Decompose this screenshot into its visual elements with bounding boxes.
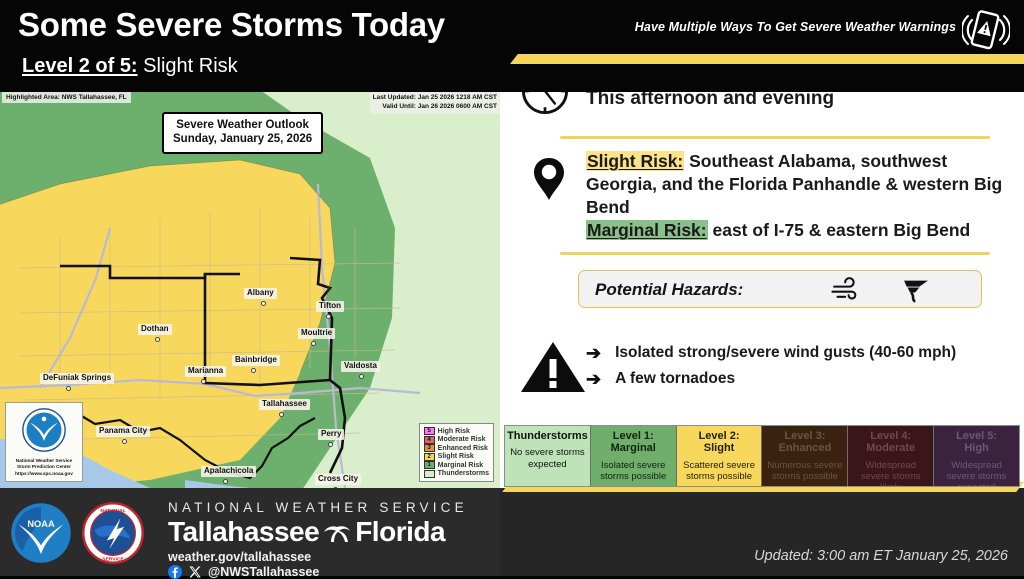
city-label: Dothan <box>138 324 172 335</box>
risk-scale-title: Level 3: Enhanced <box>779 430 832 455</box>
city-marker <box>279 412 284 417</box>
facebook-icon[interactable] <box>168 565 182 579</box>
state-name: Florida <box>355 516 445 548</box>
outlook-date: Sunday, January 25, 2026 <box>173 132 312 146</box>
legend-label: Moderate Risk <box>438 436 486 443</box>
header-bar: Some Severe Storms Today Level 2 of 5: S… <box>0 0 1024 92</box>
map-timestamp-block: Last Updated: Jan 25 2026 1218 AM CST Va… <box>370 92 500 114</box>
warning-triangle-icon <box>520 340 586 394</box>
page-title: Some Severe Storms Today <box>18 6 445 44</box>
legend-label: Thunderstorms <box>438 470 489 477</box>
hazards-label: Potential Hazards: <box>595 280 743 300</box>
legend-label: High Risk <box>438 428 470 435</box>
risk-scale-description: Widespread severe storms expected <box>936 460 1017 486</box>
map-pin-icon <box>532 156 566 202</box>
svg-text:NOAA: NOAA <box>27 519 55 529</box>
risk-scale-cell: Level 2: SlightScattered severe storms p… <box>677 426 763 486</box>
noaa-logo: NOAA <box>10 502 72 564</box>
risk-scale-cell: Level 1: MarginalIsolated severe storms … <box>591 426 677 486</box>
slight-risk-label: Slight Risk: <box>586 151 684 171</box>
legend-item: Thunderstorms <box>424 470 489 478</box>
spc-line-1: National Weather Service <box>8 458 80 465</box>
city-label: Valdosta <box>341 361 380 372</box>
details-panel: When: This afternoon and evening Slight … <box>500 52 1024 488</box>
marginal-risk-label: Marginal Risk: <box>586 220 708 240</box>
hazard-bullet-text: Isolated strong/severe wind gusts (40-60… <box>615 344 956 362</box>
noaa-logo-small <box>21 407 67 453</box>
map-last-updated: Last Updated: Jan 25 2026 1218 AM CST <box>373 94 497 103</box>
updated-timestamp: Updated: 3:00 am ET January 25, 2026 <box>754 548 1008 564</box>
marginal-risk-text: east of I-75 & eastern Big Bend <box>708 220 971 240</box>
legend-swatch <box>424 470 435 478</box>
risk-scale-description: No severe storms expected <box>507 447 588 469</box>
map-highlight-note: Highlighted Area: NWS Tallahassee, FL <box>2 92 131 103</box>
risk-scale-title: Level 4: Moderate <box>866 430 915 455</box>
accent-bar-top <box>510 54 1024 64</box>
city-marker <box>328 442 333 447</box>
wind-gust-icon <box>829 277 863 303</box>
legend-swatch: 1 <box>424 461 435 469</box>
spc-line-3: https://www.spc.noaa.gov <box>8 471 80 478</box>
risk-level-emph: Level 2 of 5: <box>22 55 138 77</box>
legend-swatch: 2 <box>424 453 435 461</box>
arrow-icon: ➔ <box>586 370 601 388</box>
legend-label: Marginal Risk <box>438 462 484 469</box>
legend-item: 1 Marginal Risk <box>424 461 489 469</box>
risk-level-subtitle: Level 2 of 5: Slight Risk <box>22 55 238 78</box>
risk-scale-cell: Level 5: HighWidespread severe storms ex… <box>934 426 1019 486</box>
x-twitter-icon[interactable] <box>188 565 202 579</box>
city-label: Marianna <box>185 366 226 377</box>
legend-item: 2 Slight Risk <box>424 453 489 461</box>
weather-graphic: Updated: 3:00 am ET January 25, 2026 <box>0 0 1024 576</box>
palm-tree-icon <box>322 521 352 543</box>
risk-scale-title: Level 1: Marginal <box>611 430 656 455</box>
risk-scale-title: Level 5: High <box>956 430 997 455</box>
city-label: Cross City <box>315 474 361 485</box>
risk-areas-text: Slight Risk: Southeast Alabama, southwes… <box>586 150 1014 242</box>
risk-scale-title: Level 2: Slight <box>699 430 740 455</box>
risk-scale-description: Widespread severe storms likely <box>850 460 931 486</box>
legend-label: Enhanced Risk <box>438 445 488 452</box>
city-label: Perry <box>318 429 344 440</box>
nws-logo: NATIONAL SERVICE <box>82 502 144 564</box>
city-marker <box>155 337 160 342</box>
risk-scale-description: Scattered severe storms possible <box>679 460 760 482</box>
spc-line-2: Storm Prediction Center <box>8 464 80 471</box>
agency-name: NATIONAL WEATHER SERVICE <box>168 500 468 515</box>
office-name: Tallahassee <box>168 516 319 548</box>
risk-scale-table: ThunderstormsNo severe storms expectedLe… <box>504 425 1020 487</box>
risk-level-rest: Slight Risk <box>138 55 238 77</box>
risk-scale-description: Numerous severe storms possible <box>764 460 845 482</box>
spc-credit-box: National Weather Service Storm Predictio… <box>5 402 83 482</box>
social-handle: @NWSTallahassee <box>208 565 319 579</box>
city-label: Panama City <box>96 426 150 437</box>
city-label: Bainbridge <box>232 355 280 366</box>
map-legend: 5 High Risk 4 Moderate Risk 3 Enhanced R… <box>419 423 494 482</box>
city-label: Tifton <box>316 301 344 312</box>
legend-item: 4 Moderate Risk <box>424 436 489 444</box>
warning-tagline: Have Multiple Ways To Get Severe Weather… <box>635 20 956 34</box>
legend-item: 5 High Risk <box>424 427 489 435</box>
city-label: Moultrie <box>298 328 335 339</box>
city-marker <box>359 374 364 379</box>
social-row: @NWSTallahassee <box>168 565 319 579</box>
city-marker <box>251 368 256 373</box>
city-marker <box>326 314 331 319</box>
city-marker <box>223 479 228 484</box>
risk-scale-cell: ThunderstormsNo severe storms expected <box>505 426 591 486</box>
outlook-title: Severe Weather Outlook <box>173 118 312 132</box>
legend-swatch: 3 <box>424 444 435 452</box>
map-valid-until: Valid Until: Jan 26 2026 0600 AM CST <box>373 103 497 112</box>
city-label: DeFuniak Springs <box>40 373 114 384</box>
hazard-bullet: ➔ Isolated strong/severe wind gusts (40-… <box>586 344 956 362</box>
arrow-icon: ➔ <box>586 344 601 362</box>
office-name-row: Tallahassee Florida <box>168 516 445 548</box>
hazard-bullet: ➔ A few tornadoes <box>586 370 956 388</box>
phone-alert-icon <box>962 8 1010 52</box>
city-marker <box>66 386 71 391</box>
divider-top <box>560 136 990 139</box>
risk-scale-description: Isolated severe storms possible <box>593 460 674 482</box>
severe-weather-outlook-map: Highlighted Area: NWS Tallahassee, FL La… <box>0 88 500 488</box>
city-marker <box>201 379 206 384</box>
outlook-title-box: Severe Weather Outlook Sunday, January 2… <box>162 112 323 154</box>
hazard-bullet-list: ➔ Isolated strong/severe wind gusts (40-… <box>586 344 956 396</box>
city-label: Albany <box>244 288 277 299</box>
hazard-bullet-text: A few tornadoes <box>615 370 735 388</box>
legend-label: Slight Risk <box>438 453 474 460</box>
legend-swatch: 4 <box>424 436 435 444</box>
svg-text:SERVICE: SERVICE <box>102 556 124 562</box>
risk-scale-cell: Level 3: EnhancedNumerous severe storms … <box>762 426 848 486</box>
city-marker <box>311 341 316 346</box>
tornado-icon <box>899 277 933 303</box>
city-label: Apalachicola <box>201 466 256 477</box>
potential-hazards-box: Potential Hazards: <box>578 270 982 308</box>
city-label: Tallahassee <box>259 399 310 410</box>
risk-scale-cell: Level 4: ModerateWidespread severe storm… <box>848 426 934 486</box>
nws-branding: NOAA NATIONAL SERVICE NATIONAL WEATHER S… <box>0 488 500 576</box>
divider-bottom <box>560 252 990 255</box>
city-marker <box>261 301 266 306</box>
city-marker <box>122 439 127 444</box>
legend-item: 3 Enhanced Risk <box>424 444 489 452</box>
svg-text:NATIONAL: NATIONAL <box>100 508 125 514</box>
website-url: weather.gov/tallahassee <box>168 550 311 564</box>
risk-scale-title: Thunderstorms <box>507 430 588 442</box>
legend-swatch: 5 <box>424 427 435 435</box>
